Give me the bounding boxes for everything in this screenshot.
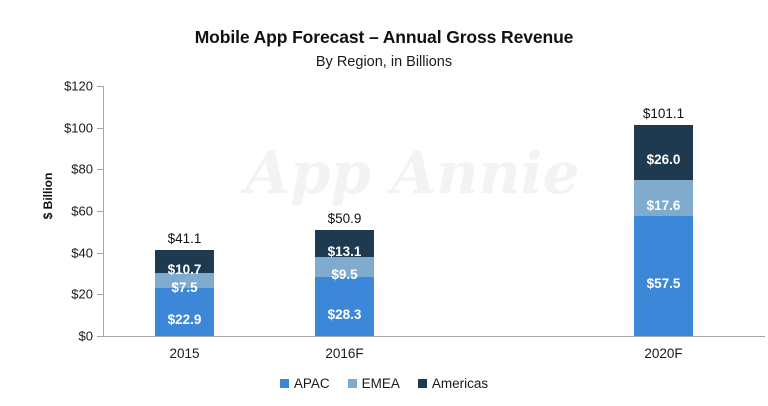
y-tick-label: $60 xyxy=(3,204,93,219)
y-tick-mark xyxy=(97,86,103,87)
y-tick-label: $20 xyxy=(3,287,93,302)
y-tick-label: $80 xyxy=(3,162,93,177)
x-axis-label-2020f: 2020F xyxy=(604,346,724,361)
chart-legend: APACEMEAAmericas xyxy=(0,376,768,391)
legend-label: APAC xyxy=(294,376,330,391)
y-tick-label: $120 xyxy=(3,79,93,94)
y-tick-label: $40 xyxy=(3,245,93,260)
y-tick-mark xyxy=(97,253,103,254)
bar-total-label: $41.1 xyxy=(143,231,226,246)
legend-item-emea[interactable]: EMEA xyxy=(348,376,400,391)
legend-swatch-icon xyxy=(348,379,357,388)
legend-item-apac[interactable]: APAC xyxy=(280,376,330,391)
bar-group[interactable]: $22.9$7.5$10.7$41.1 xyxy=(155,86,214,336)
x-axis-line xyxy=(103,336,765,337)
legend-swatch-icon xyxy=(418,379,427,388)
y-tick-mark xyxy=(97,294,103,295)
bar-group[interactable]: $28.3$9.5$13.1$50.9 xyxy=(315,86,374,336)
y-axis-ticks: $0$20$40$60$80$100$120 xyxy=(0,0,93,406)
y-tick-label: $100 xyxy=(3,120,93,135)
chart-subtitle: By Region, in Billions xyxy=(0,54,768,70)
y-tick-mark xyxy=(97,128,103,129)
bar-total-label: $50.9 xyxy=(303,211,386,226)
y-tick-mark xyxy=(97,211,103,212)
bar-group[interactable]: $57.5$17.6$26.0$101.1 xyxy=(634,86,693,336)
chart-title: Mobile App Forecast – Annual Gross Reven… xyxy=(0,27,768,48)
legend-label: Americas xyxy=(432,376,488,391)
chart-screenshot: Mobile App Forecast – Annual Gross Reven… xyxy=(0,0,768,406)
legend-swatch-icon xyxy=(280,379,289,388)
y-tick-mark xyxy=(97,169,103,170)
bar-total-label: $101.1 xyxy=(622,106,705,121)
x-axis-label-2015: 2015 xyxy=(125,346,245,361)
y-tick-mark xyxy=(97,336,103,337)
x-axis-label-2016f: 2016F xyxy=(285,346,405,361)
legend-item-americas[interactable]: Americas xyxy=(418,376,488,391)
legend-label: EMEA xyxy=(362,376,400,391)
y-tick-label: $0 xyxy=(3,329,93,344)
